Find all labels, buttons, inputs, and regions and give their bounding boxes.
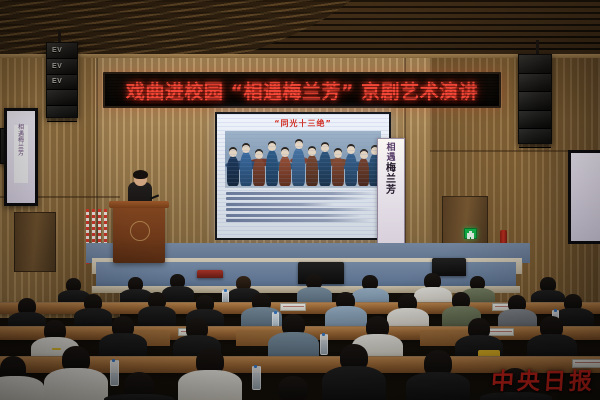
presenter-hair — [133, 170, 148, 179]
emergency-exit-icon — [464, 228, 477, 239]
lanyard — [52, 348, 61, 350]
led-banner-text: 戏曲进校园 “相遇梅兰芳” 京剧艺术演讲 — [126, 77, 478, 104]
speaker-brand-label: EV — [52, 78, 62, 85]
scroll-char: 芳 — [386, 185, 396, 196]
scroll-char: 芳 — [18, 151, 24, 158]
podium — [113, 205, 165, 263]
audience-person — [406, 372, 470, 400]
speaker-rigging — [536, 40, 539, 54]
audience-person — [44, 368, 108, 400]
audience-person — [162, 286, 194, 303]
water-bottle — [320, 334, 328, 355]
speaker-brand-label: EV — [52, 63, 62, 70]
slide-caption-block — [226, 192, 380, 232]
side-display-left: 相 遇 梅 兰 芳 — [4, 108, 38, 206]
watermark-char: 中 — [490, 371, 515, 394]
scroll-char: 梅 — [386, 163, 396, 174]
scroll-char: 遇 — [386, 153, 395, 163]
watermark-char: 报 — [568, 371, 593, 394]
audience-person — [178, 370, 242, 400]
audience-person — [74, 308, 112, 328]
audience-person — [138, 306, 176, 327]
side-display-scroll-graphic: 相 遇 梅 兰 芳 — [14, 125, 28, 183]
watermark-char: 日 — [542, 371, 567, 394]
podium-emblem — [130, 221, 150, 241]
speaker-brand-label: EV — [52, 47, 62, 54]
water-bottle — [252, 366, 261, 390]
slide-title: “同光十三绝” — [217, 118, 389, 129]
led-banner: 戏曲进校园 “相遇梅兰芳” 京剧艺术演讲 — [103, 72, 501, 108]
scroll-char: 兰 — [386, 174, 396, 185]
hanging-scroll-xiangyu-meilanfang: 相 遇 梅 兰 芳 — [377, 138, 405, 244]
watermark-char: 央 — [516, 371, 541, 394]
side-display-right — [568, 150, 600, 244]
audience-head — [278, 376, 308, 400]
projection-screen: “同光十三绝” — [215, 112, 391, 240]
slide-painting-tongguang-thirteen — [225, 131, 381, 188]
line-array-speaker-right — [518, 54, 552, 144]
audience-person — [0, 376, 44, 400]
water-bottle — [110, 360, 119, 386]
audience-person — [104, 394, 174, 400]
line-array-speaker-left: EV EV EV — [46, 42, 78, 118]
audience-person — [322, 366, 386, 400]
scroll-char: 相 — [386, 143, 395, 153]
name-placard — [572, 359, 600, 368]
name-placard — [280, 303, 306, 311]
side-door-left[interactable] — [14, 212, 56, 272]
watermark-logo: 中 央 日 报 — [491, 371, 592, 394]
auditorium-photo: EV EV EV 戏曲进校园 “相遇梅兰芳” 京剧艺术演讲 “同光十三绝” — [0, 0, 600, 400]
